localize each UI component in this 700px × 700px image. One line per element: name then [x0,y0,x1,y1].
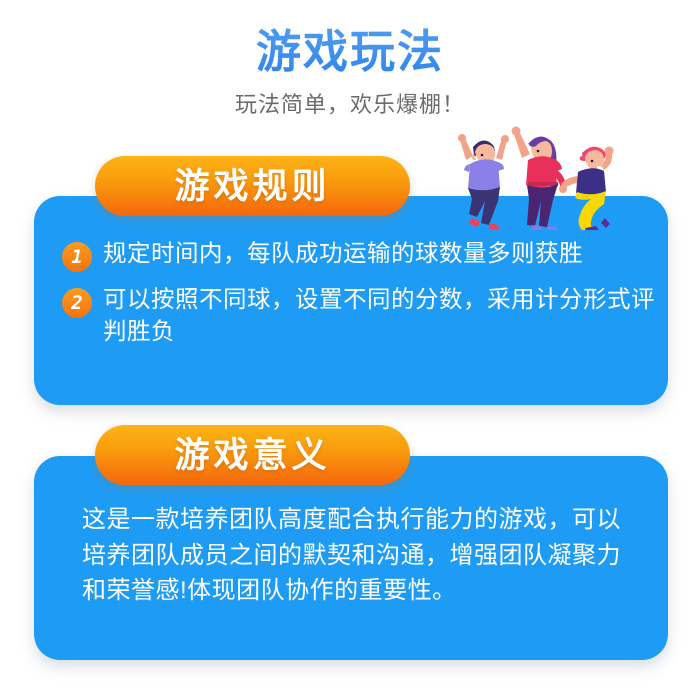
rule-number-badge: 2 [62,288,92,318]
meaning-badge-label: 游戏意义 [174,438,330,473]
meaning-body: 这是一款培养团队高度配合执行能力的游戏，可以培养团队成员之间的默契和沟通，增强团… [34,502,668,609]
page-subtitle: 玩法简单，欢乐爆棚！ [0,87,700,119]
rules-list: 1 规定时间内，每队成功运输的球数量多则获胜 2 可以按照不同球，设置不同的分数… [34,238,668,359]
page-header: 游戏玩法 玩法简单，欢乐爆棚！ [0,0,700,119]
page-title: 游戏玩法 [0,26,700,78]
rules-badge-label: 游戏规则 [174,169,330,204]
rule-text: 可以按照不同球，设置不同的分数，采用计分形式评判胜负 [103,284,668,347]
rule-item: 2 可以按照不同球，设置不同的分数，采用计分形式评判胜负 [62,284,668,347]
meaning-paragraph: 这是一款培养团队高度配合执行能力的游戏，可以培养团队成员之间的默契和沟通，增强团… [82,502,624,609]
promo-poster: 游戏玩法 玩法简单，欢乐爆棚！ [0,0,700,700]
rule-item: 1 规定时间内，每队成功运输的球数量多则获胜 [62,238,668,272]
meaning-badge: 游戏意义 [95,425,410,485]
rules-badge: 游戏规则 [95,156,410,216]
rule-text: 规定时间内，每队成功运输的球数量多则获胜 [103,238,668,270]
rule-number-badge: 1 [62,242,92,272]
